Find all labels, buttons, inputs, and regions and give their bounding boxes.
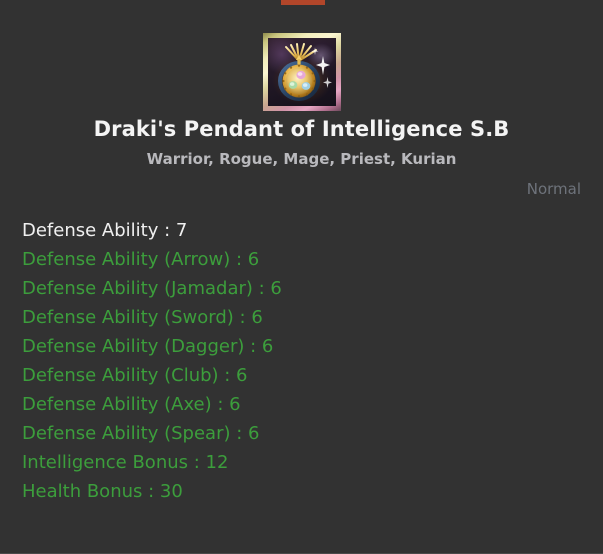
gold-pendant-amulet-icon	[268, 38, 336, 106]
stat-line: Defense Ability : 7	[22, 216, 591, 245]
stat-line: Health Bonus : 30	[22, 477, 591, 506]
stat-line: Defense Ability (Arrow) : 6	[22, 245, 591, 274]
item-icon[interactable]	[263, 33, 341, 111]
stat-line: Defense Ability (Sword) : 6	[22, 303, 591, 332]
stat-line: Defense Ability (Club) : 6	[22, 361, 591, 390]
stat-line: Intelligence Bonus : 12	[22, 448, 591, 477]
stat-line: Defense Ability (Spear) : 6	[22, 419, 591, 448]
item-tooltip-panel: Draki's Pendant of Intelligence S.B Warr…	[0, 0, 603, 554]
item-stat-list: Defense Ability : 7Defense Ability (Arro…	[22, 216, 591, 506]
stat-line: Defense Ability (Jamadar) : 6	[22, 274, 591, 303]
item-class-requirements: Warrior, Rogue, Mage, Priest, Kurian	[0, 150, 603, 168]
stat-line: Defense Ability (Axe) : 6	[22, 390, 591, 419]
item-icon-rarity-frame	[263, 33, 341, 111]
item-grade-label: Normal	[0, 180, 581, 198]
item-title: Draki's Pendant of Intelligence S.B	[0, 117, 603, 141]
stat-line: Defense Ability (Dagger) : 6	[22, 332, 591, 361]
top-accent-bar	[281, 0, 325, 5]
